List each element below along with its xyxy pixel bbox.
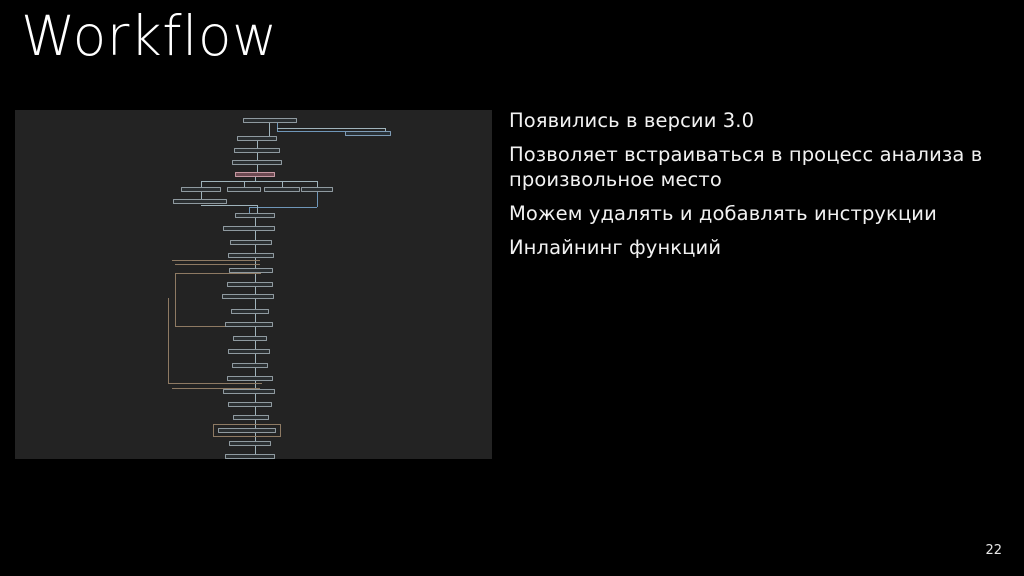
page-title: Workflow bbox=[21, 6, 278, 67]
graph-node bbox=[223, 389, 275, 394]
graph-edge-blue bbox=[249, 207, 317, 208]
pass-pipeline-figure bbox=[15, 110, 492, 459]
body-paragraph-4: Инлайнинг функций bbox=[509, 235, 1014, 260]
graph-loopback-edge bbox=[172, 260, 260, 261]
graph-node bbox=[227, 376, 273, 381]
graph-node bbox=[235, 172, 275, 177]
graph-edge bbox=[201, 192, 202, 199]
graph-node bbox=[233, 415, 269, 420]
graph-node bbox=[231, 309, 269, 314]
body-paragraph-3: Можем удалять и добавлять инструкции bbox=[509, 201, 1014, 226]
graph-edge bbox=[255, 368, 256, 376]
graph-node bbox=[232, 160, 282, 165]
graph-node bbox=[223, 226, 275, 231]
graph-edge bbox=[255, 394, 256, 402]
graph-canvas bbox=[15, 110, 492, 459]
graph-edge bbox=[277, 128, 385, 129]
page-number: 22 bbox=[985, 543, 1002, 558]
graph-node bbox=[218, 428, 276, 433]
graph-node bbox=[235, 213, 275, 218]
graph-edge bbox=[255, 354, 256, 363]
graph-node bbox=[264, 187, 300, 192]
graph-edge bbox=[255, 287, 256, 294]
graph-edge bbox=[255, 231, 256, 240]
graph-loopback-edge bbox=[168, 298, 169, 383]
graph-node bbox=[227, 187, 261, 192]
graph-node bbox=[173, 199, 227, 204]
graph-node bbox=[181, 187, 221, 192]
graph-loopback-edge bbox=[175, 264, 260, 265]
graph-node bbox=[228, 349, 270, 354]
graph-edge bbox=[257, 141, 258, 148]
graph-edge bbox=[255, 327, 256, 336]
graph-loopback-edge bbox=[168, 383, 262, 384]
graph-node bbox=[301, 187, 333, 192]
graph-edge bbox=[255, 299, 256, 309]
graph-loopback-edge bbox=[175, 273, 176, 326]
graph-node bbox=[237, 136, 277, 141]
graph-node bbox=[232, 363, 268, 368]
graph-edge bbox=[269, 123, 270, 136]
graph-node bbox=[345, 131, 391, 136]
graph-node bbox=[243, 118, 297, 123]
graph-node bbox=[229, 441, 271, 446]
graph-edge bbox=[201, 205, 257, 206]
body-paragraph-1: Появились в версии 3.0 bbox=[509, 108, 1014, 133]
body-text-block: Появились в версии 3.0 Позволяет встраив… bbox=[509, 108, 1014, 269]
graph-node bbox=[222, 294, 274, 299]
graph-node bbox=[227, 282, 273, 287]
graph-edge bbox=[257, 205, 258, 213]
graph-node bbox=[225, 322, 273, 327]
body-paragraph-2: Позволяет встраиваться в процесс анализа… bbox=[509, 142, 1014, 192]
graph-node bbox=[228, 253, 274, 258]
graph-node bbox=[234, 148, 280, 153]
graph-loopback-edge bbox=[175, 273, 261, 274]
graph-node bbox=[230, 240, 272, 245]
graph-edge bbox=[255, 273, 256, 282]
graph-edge bbox=[255, 407, 256, 415]
slide-root: Workflow bbox=[0, 0, 1024, 576]
graph-edge bbox=[255, 245, 256, 253]
graph-edge bbox=[257, 165, 258, 172]
graph-edge-blue bbox=[277, 131, 347, 132]
graph-edge bbox=[255, 341, 256, 349]
graph-node bbox=[225, 454, 275, 459]
graph-edge bbox=[255, 218, 256, 226]
graph-node bbox=[229, 268, 273, 273]
graph-node bbox=[228, 402, 272, 407]
graph-edge-blue bbox=[317, 192, 318, 207]
graph-node bbox=[233, 336, 267, 341]
graph-edge bbox=[201, 181, 317, 182]
graph-edge bbox=[255, 314, 256, 322]
graph-edge bbox=[257, 153, 258, 160]
graph-edge bbox=[255, 446, 256, 454]
